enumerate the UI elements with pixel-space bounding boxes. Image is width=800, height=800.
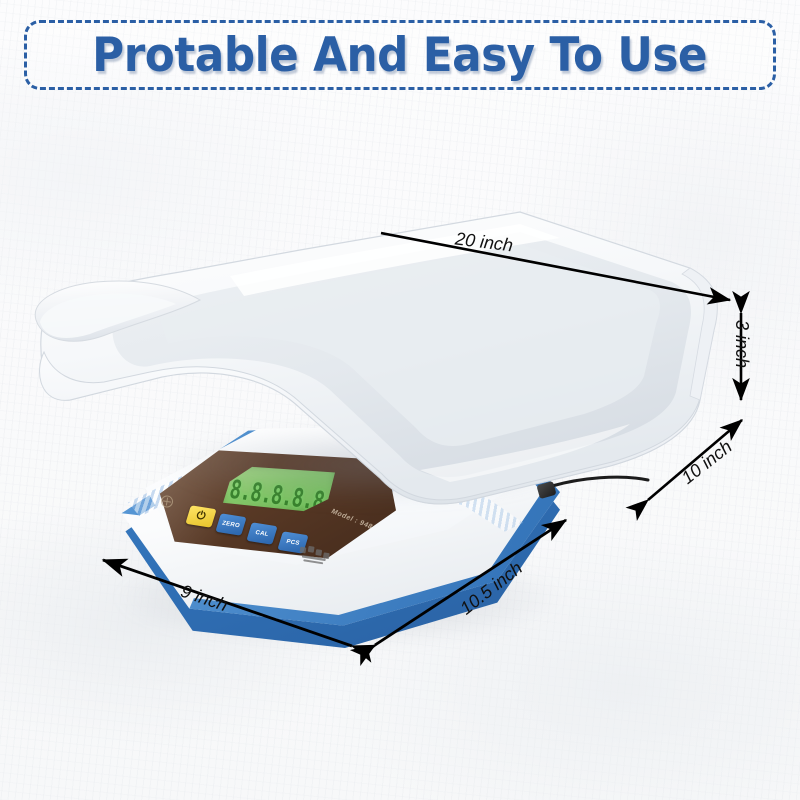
dimension-annotations (0, 0, 800, 800)
dimension-label-height: 3 inch (731, 320, 752, 368)
dimension-arrow-length (381, 233, 730, 300)
product-image-canvas: Protable And Easy To Use Electronic Bala… (0, 0, 800, 800)
dimension-arrow-base-depth (375, 520, 566, 645)
